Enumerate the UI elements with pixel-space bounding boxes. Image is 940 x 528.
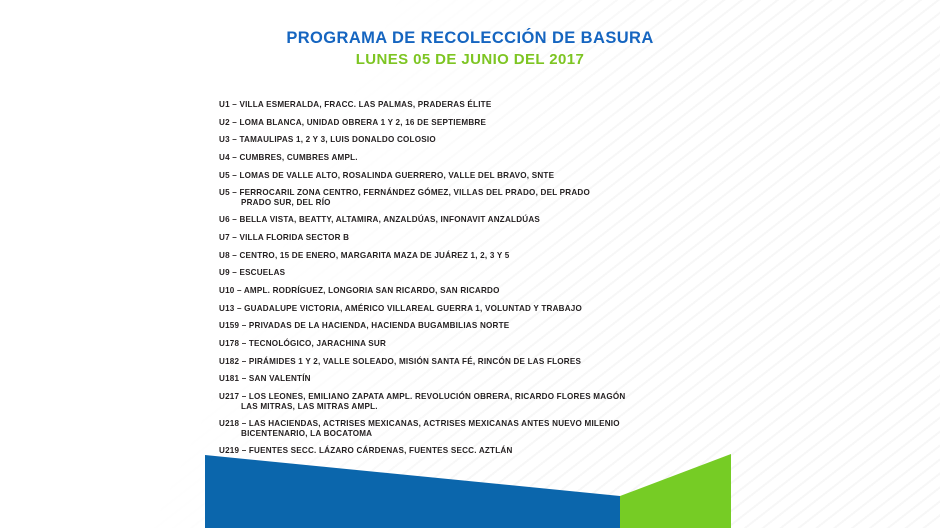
route-line-primary: U1 – VILLA ESMERALDA, FRACC. LAS PALMAS,… (219, 100, 491, 109)
page-title: PROGRAMA DE RECOLECCIÓN DE BASURA (0, 28, 940, 49)
route-line-continuation: BICENTENARIO, LA BOCATOMA (219, 429, 739, 438)
route-line-primary: U10 – AMPL. RODRÍGUEZ, LONGORIA SAN RICA… (219, 286, 500, 295)
page-subtitle: LUNES 05 DE JUNIO DEL 2017 (0, 50, 940, 70)
route-line-continuation: PRADO SUR, DEL RÍO (219, 198, 739, 207)
route-line-primary: U217 – LOS LEONES, EMILIANO ZAPATA AMPL.… (219, 392, 625, 401)
route-line-primary: U218 – LAS HACIENDAS, ACTRISES MEXICANAS… (219, 419, 620, 428)
list-item: U181 – SAN VALENTÍN (219, 374, 739, 383)
route-line-primary: U6 – BELLA VISTA, BEATTY, ALTAMIRA, ANZA… (219, 215, 540, 224)
route-line-primary: U9 – ESCUELAS (219, 268, 285, 277)
list-item: U7 – VILLA FLORIDA SECTOR B (219, 233, 739, 242)
route-list: U1 – VILLA ESMERALDA, FRACC. LAS PALMAS,… (219, 100, 739, 482)
route-line-primary: U3 – TAMAULIPAS 1, 2 Y 3, LUIS DONALDO C… (219, 135, 436, 144)
list-item: U10 – AMPL. RODRÍGUEZ, LONGORIA SAN RICA… (219, 286, 739, 295)
list-item: U1 – VILLA ESMERALDA, FRACC. LAS PALMAS,… (219, 100, 739, 109)
list-item: U4 – CUMBRES, CUMBRES AMPL. (219, 153, 739, 162)
list-item: U5 – FERROCARIL ZONA CENTRO, FERNÁNDEZ G… (219, 188, 739, 207)
route-line-primary: U178 – TECNOLÓGICO, JARACHINA SUR (219, 339, 386, 348)
route-line-primary: U8 – CENTRO, 15 DE ENERO, MARGARITA MAZA… (219, 251, 510, 260)
route-line-primary: U159 – PRIVADAS DE LA HACIENDA, HACIENDA… (219, 321, 509, 330)
list-item: U5 – LOMAS DE VALLE ALTO, ROSALINDA GUER… (219, 171, 739, 180)
green-wedge (620, 454, 731, 528)
route-line-primary: U4 – CUMBRES, CUMBRES AMPL. (219, 153, 358, 162)
list-item: U13 – GUADALUPE VICTORIA, AMÉRICO VILLAR… (219, 304, 739, 313)
bottom-chevron-graphic (0, 438, 940, 528)
route-line-primary: U2 – LOMA BLANCA, UNIDAD OBRERA 1 Y 2, 1… (219, 118, 486, 127)
list-item: U217 – LOS LEONES, EMILIANO ZAPATA AMPL.… (219, 392, 739, 411)
list-item: U159 – PRIVADAS DE LA HACIENDA, HACIENDA… (219, 321, 739, 330)
list-item: U8 – CENTRO, 15 DE ENERO, MARGARITA MAZA… (219, 251, 739, 260)
route-line-primary: U5 – LOMAS DE VALLE ALTO, ROSALINDA GUER… (219, 171, 554, 180)
list-item: U6 – BELLA VISTA, BEATTY, ALTAMIRA, ANZA… (219, 215, 739, 224)
list-item: U218 – LAS HACIENDAS, ACTRISES MEXICANAS… (219, 419, 739, 438)
list-item: U182 – PIRÁMIDES 1 Y 2, VALLE SOLEADO, M… (219, 357, 739, 366)
route-line-continuation: LAS MITRAS, LAS MITRAS AMPL. (219, 402, 739, 411)
route-line-primary: U7 – VILLA FLORIDA SECTOR B (219, 233, 349, 242)
route-line-primary: U182 – PIRÁMIDES 1 Y 2, VALLE SOLEADO, M… (219, 357, 581, 366)
list-item: U9 – ESCUELAS (219, 268, 739, 277)
list-item: U3 – TAMAULIPAS 1, 2 Y 3, LUIS DONALDO C… (219, 135, 739, 144)
slide-header: PROGRAMA DE RECOLECCIÓN DE BASURA LUNES … (0, 28, 940, 69)
blue-wedge (205, 455, 620, 528)
route-line-primary: U5 – FERROCARIL ZONA CENTRO, FERNÁNDEZ G… (219, 188, 590, 197)
list-item: U2 – LOMA BLANCA, UNIDAD OBRERA 1 Y 2, 1… (219, 118, 739, 127)
route-line-primary: U13 – GUADALUPE VICTORIA, AMÉRICO VILLAR… (219, 304, 582, 313)
list-item: U178 – TECNOLÓGICO, JARACHINA SUR (219, 339, 739, 348)
route-line-primary: U181 – SAN VALENTÍN (219, 374, 311, 383)
slide-canvas: PROGRAMA DE RECOLECCIÓN DE BASURA LUNES … (0, 0, 940, 528)
